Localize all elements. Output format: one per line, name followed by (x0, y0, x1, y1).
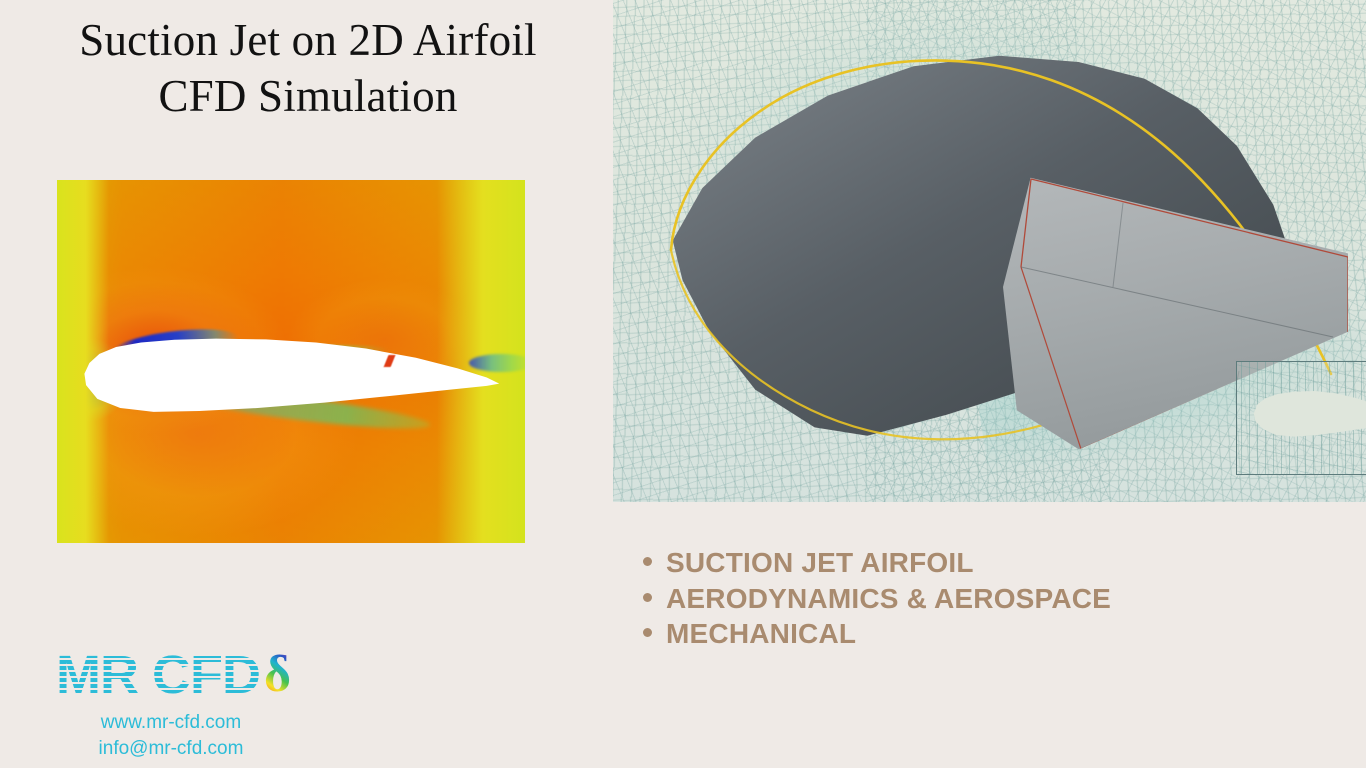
list-item: SUCTION JET AIRFOIL (666, 545, 1336, 581)
mesh-render-image (613, 0, 1366, 502)
logo-website-link[interactable]: www.mr-cfd.com (56, 710, 286, 736)
bullet-label: AERODYNAMICS & AEROSPACE (666, 583, 1111, 614)
brand-logo[interactable]: MR CFD δ www.mr-cfd.com info@mr-cfd.com (56, 648, 356, 758)
logo-word-mr-text: MR (56, 645, 138, 705)
bullet-dot-icon (643, 628, 652, 637)
topic-bullet-list: SUCTION JET AIRFOIL AERODYNAMICS & AEROS… (636, 545, 1336, 652)
logo-email-link[interactable]: info@mr-cfd.com (56, 736, 286, 762)
bullet-dot-icon (643, 557, 652, 566)
logo-delta-icon: δ (264, 648, 291, 702)
bullet-label: SUCTION JET AIRFOIL (666, 547, 974, 578)
logo-word-cfd: CFD (152, 648, 260, 702)
bullet-label: MECHANICAL (666, 618, 856, 649)
title-line-2: CFD Simulation (0, 68, 616, 124)
logo-word-cfd-text: CFD (152, 645, 260, 705)
list-item: AERODYNAMICS & AEROSPACE (666, 581, 1336, 617)
page-title: Suction Jet on 2D Airfoil CFD Simulation (0, 12, 616, 125)
list-item: MECHANICAL (666, 616, 1336, 652)
contour-plot-image (57, 180, 525, 543)
title-line-1: Suction Jet on 2D Airfoil (0, 12, 616, 68)
airfoil-inset-frame (1236, 361, 1366, 475)
slide-canvas: Suction Jet on 2D Airfoil CFD Simulation (0, 0, 1366, 768)
logo-word-mr: MR (56, 648, 138, 702)
logo-wordmark: MR CFD δ (56, 648, 356, 706)
logo-contact: www.mr-cfd.com info@mr-cfd.com (56, 710, 286, 761)
bullet-dot-icon (643, 593, 652, 602)
